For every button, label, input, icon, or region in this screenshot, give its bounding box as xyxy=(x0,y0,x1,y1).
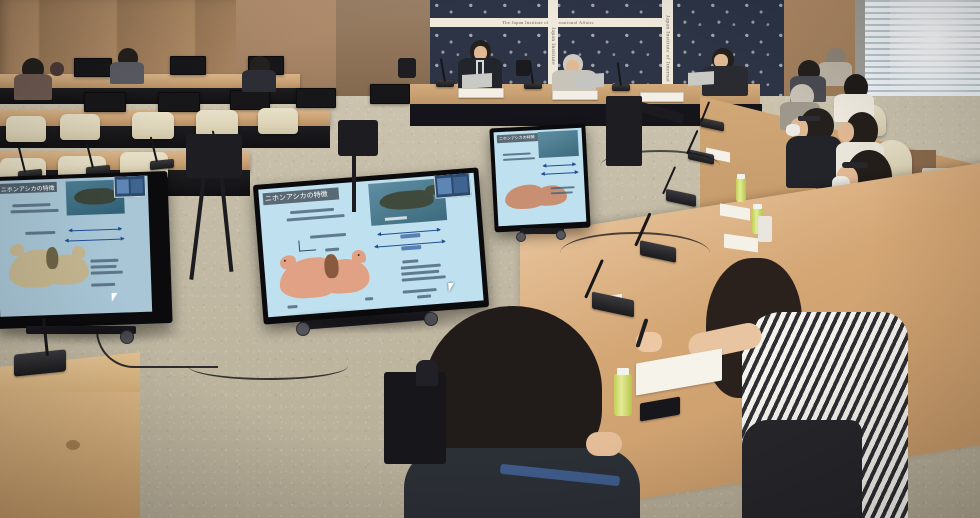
back-desk-monitor-1 xyxy=(74,58,112,77)
callout-leader-line xyxy=(298,239,316,251)
slide-text-line xyxy=(11,209,59,214)
slide-text-line xyxy=(503,152,531,155)
slide-label-pup xyxy=(325,248,339,252)
equipment-mount xyxy=(338,120,378,156)
measure-arrow-body-length xyxy=(69,229,121,232)
person-head xyxy=(50,62,64,76)
camera-unit xyxy=(398,58,416,78)
slide-text-line xyxy=(12,203,50,207)
measure-label-body-length xyxy=(400,233,420,239)
mouse-cursor xyxy=(448,283,455,292)
sealion-pup xyxy=(46,247,59,269)
slide-text-line xyxy=(417,294,431,298)
face-mask xyxy=(786,124,800,136)
sealion-head xyxy=(10,244,24,256)
name-plate xyxy=(552,90,598,100)
slide-text-line xyxy=(290,208,334,214)
chair xyxy=(258,108,298,134)
measure-arrow xyxy=(543,164,575,167)
eyeglasses-icon xyxy=(842,162,868,168)
measure-arrow xyxy=(542,172,578,175)
sealion-head xyxy=(280,255,297,270)
slide-text-line xyxy=(403,288,437,294)
camera-unit xyxy=(416,360,438,386)
back-desk-monitor-4 xyxy=(84,92,126,112)
slide-title: ニホンアシカの特徴 xyxy=(497,133,539,143)
bottle-cap xyxy=(737,174,745,179)
equipment-mount xyxy=(606,96,642,166)
slide-photo-inset xyxy=(538,130,579,158)
specimen-photo xyxy=(74,188,117,205)
slide-text-line xyxy=(401,264,441,270)
slide-text-line xyxy=(310,233,346,239)
stand-pole xyxy=(352,152,356,212)
floor-cable xyxy=(560,232,710,274)
rear-monitor: ニホンアシカの特徴 xyxy=(489,124,590,233)
bottle-cap xyxy=(753,204,762,209)
chair xyxy=(196,110,238,137)
foreground-man-hand xyxy=(586,432,622,456)
sealion-eye xyxy=(358,254,360,256)
water-bottle xyxy=(758,216,772,242)
foreground-left-desk-front xyxy=(0,392,140,518)
sealion-eye xyxy=(284,260,286,262)
conference-room-photo: The Japan Institute of International Aff… xyxy=(0,0,980,518)
person-torso xyxy=(14,74,52,100)
eyeglasses-icon xyxy=(798,116,820,121)
back-desk-monitor-2 xyxy=(170,56,206,75)
green-tea-bottle xyxy=(614,374,632,416)
slide-title: ニホンアシカの特徴 xyxy=(0,182,57,194)
person-torso xyxy=(242,70,276,92)
sealion-head xyxy=(72,246,85,258)
slide-text-line xyxy=(91,271,123,275)
slide-text-line xyxy=(287,214,345,222)
monitor-caster xyxy=(556,230,566,240)
slide-text-line xyxy=(402,259,418,263)
chair xyxy=(132,112,174,139)
notetaker-lap xyxy=(742,420,862,518)
laptop xyxy=(574,73,604,89)
name-plate xyxy=(458,88,504,98)
chair xyxy=(60,114,100,140)
back-desk-monitor-8 xyxy=(370,84,410,104)
bottle-cap xyxy=(617,368,629,375)
mouse-cursor xyxy=(112,293,118,302)
laptop xyxy=(462,73,492,89)
center-monitor: ニホンアシカの特徴 xyxy=(253,167,489,324)
slide-text-line xyxy=(91,283,115,287)
slide-text-line xyxy=(91,265,117,269)
sealion-head xyxy=(351,249,366,263)
back-desk-monitor-7 xyxy=(296,88,336,108)
measure-label-total-length xyxy=(401,245,421,251)
name-plate xyxy=(640,92,684,102)
green-tea-bottle xyxy=(736,178,746,202)
video-feed-thumbnail[interactable] xyxy=(113,176,146,198)
slide-text-line xyxy=(402,275,446,281)
camera-unit xyxy=(516,60,530,76)
cable-grommet xyxy=(66,440,80,450)
measure-arrow-total-length xyxy=(66,239,124,242)
monitor-caster xyxy=(516,232,526,242)
slide-text-line xyxy=(365,297,373,301)
back-desk-monitor-6 xyxy=(230,90,270,110)
slide-text-line xyxy=(503,157,535,161)
slide-text-line xyxy=(90,259,118,263)
monitor-shadow xyxy=(268,308,478,334)
slide-text-line xyxy=(25,231,55,235)
sealion-pup xyxy=(324,254,340,279)
slide-text-line xyxy=(401,270,439,276)
laptop xyxy=(688,71,714,86)
floor-cable xyxy=(188,352,348,380)
left-monitor: ニホンアシカの特徴 xyxy=(0,171,173,329)
tripod-head xyxy=(186,134,242,178)
person-torso xyxy=(110,62,144,84)
video-feed-thumbnail[interactable] xyxy=(434,173,472,199)
chair xyxy=(6,116,46,142)
window-glare xyxy=(890,0,980,110)
audience-face xyxy=(838,122,854,142)
back-desk-monitor-5 xyxy=(158,92,200,112)
slide-title: ニホンアシカの特徴 xyxy=(263,187,340,205)
